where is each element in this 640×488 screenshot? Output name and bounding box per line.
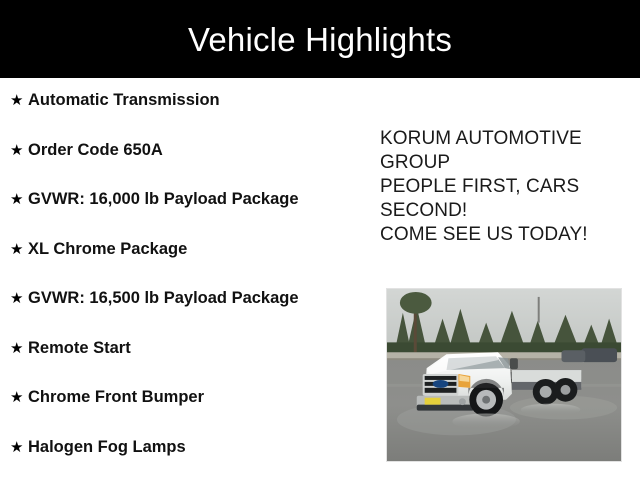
list-item: ★ XL Chrome Package — [0, 241, 372, 291]
list-item-label: GVWR: 16,000 lb Payload Package — [28, 191, 299, 208]
dealer-message-line: PEOPLE FIRST, CARS — [380, 175, 630, 199]
dealer-message-line: KORUM AUTOMOTIVE — [380, 127, 630, 151]
list-item-label: XL Chrome Package — [28, 241, 187, 258]
star-bullet-icon: ★ — [10, 390, 28, 405]
list-item: ★ Automatic Transmission — [0, 78, 372, 142]
vehicle-photo — [386, 288, 622, 462]
list-item-label: Remote Start — [28, 340, 131, 357]
list-item: ★ GVWR: 16,500 lb Payload Package — [0, 290, 372, 340]
dealer-message-line: COME SEE US TODAY! — [380, 223, 630, 247]
star-bullet-icon: ★ — [10, 143, 28, 158]
list-item: ★ Halogen Fog Lamps — [0, 439, 372, 488]
list-item-label: Order Code 650A — [28, 142, 163, 159]
list-item: ★ Remote Start — [0, 340, 372, 390]
list-item-label: Chrome Front Bumper — [28, 389, 204, 406]
page-header: Vehicle Highlights — [0, 0, 640, 78]
star-bullet-icon: ★ — [10, 291, 28, 306]
dealer-message-line: GROUP — [380, 151, 630, 175]
dealer-message-line: SECOND! — [380, 199, 630, 223]
list-item-label: GVWR: 16,500 lb Payload Package — [28, 290, 299, 307]
list-item: ★ GVWR: 16,000 lb Payload Package — [0, 191, 372, 241]
page-title: Vehicle Highlights — [188, 23, 452, 56]
content-area: ★ Automatic Transmission ★ Order Code 65… — [0, 78, 640, 480]
star-bullet-icon: ★ — [10, 440, 28, 455]
star-bullet-icon: ★ — [10, 93, 28, 108]
vehicle-photo-illustration — [387, 289, 621, 461]
list-item-label: Automatic Transmission — [28, 92, 220, 109]
dealer-message: KORUM AUTOMOTIVE GROUP PEOPLE FIRST, CAR… — [380, 127, 630, 247]
list-item: ★ Chrome Front Bumper — [0, 389, 372, 439]
list-item-label: Halogen Fog Lamps — [28, 439, 186, 456]
vehicle-highlights-list: ★ Automatic Transmission ★ Order Code 65… — [0, 78, 372, 488]
star-bullet-icon: ★ — [10, 242, 28, 257]
star-bullet-icon: ★ — [10, 192, 28, 207]
star-bullet-icon: ★ — [10, 341, 28, 356]
list-item: ★ Order Code 650A — [0, 142, 372, 192]
